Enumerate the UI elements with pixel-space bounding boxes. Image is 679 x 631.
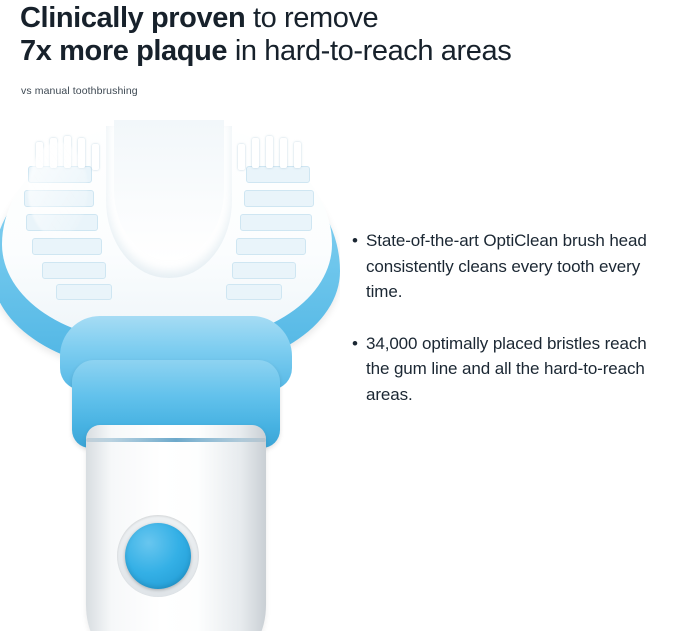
headline-line-2-bold: 7x more plaque [20,35,227,67]
headline-line-1-bold: Clinically proven [20,2,245,34]
bristle-band [232,262,296,279]
bristle-band [246,166,310,183]
headline-block: Clinically proven to remove 7x more plaq… [20,2,670,68]
bristle-tick [294,142,301,168]
bullet-dot-icon: • [352,228,366,253]
highlight-gloss [28,142,88,238]
brush-head-tongue-channel [114,120,224,260]
headline-footnote: vs manual toothbrushing [21,85,138,97]
bullet-text: State-of-the-art OptiClean brush head co… [366,228,672,305]
power-button[interactable] [125,523,191,589]
bristle-tick [92,144,99,170]
feature-bullet-list: • State-of-the-art OptiClean brush head … [352,228,672,433]
bristle-band [32,238,102,255]
bristle-tick [238,144,245,170]
bristle-band [42,262,106,279]
bullet-text: 34,000 optimally placed bristles reach t… [366,331,672,408]
list-item: • 34,000 optimally placed bristles reach… [352,331,672,408]
product-image [0,120,345,631]
bullet-dot-icon: • [352,331,366,356]
handle-seam [86,438,266,442]
bristle-band [236,238,306,255]
headline-line-1-rest: to remove [245,2,378,34]
bristle-band [226,284,282,300]
headline-line-2: 7x more plaque in hard-to-reach areas [20,35,670,68]
headline-line-2-rest: in hard-to-reach areas [227,35,511,67]
bristle-band [240,214,312,231]
product-feature-panel: Clinically proven to remove 7x more plaq… [0,0,679,631]
list-item: • State-of-the-art OptiClean brush head … [352,228,672,305]
bristle-tick [266,136,273,168]
bristle-band [244,190,314,207]
bristle-tick [252,138,259,168]
bristle-band [56,284,112,300]
brush-head-bristle-surface [2,120,332,342]
headline-line-1: Clinically proven to remove [20,2,670,35]
bristle-tick [280,138,287,168]
